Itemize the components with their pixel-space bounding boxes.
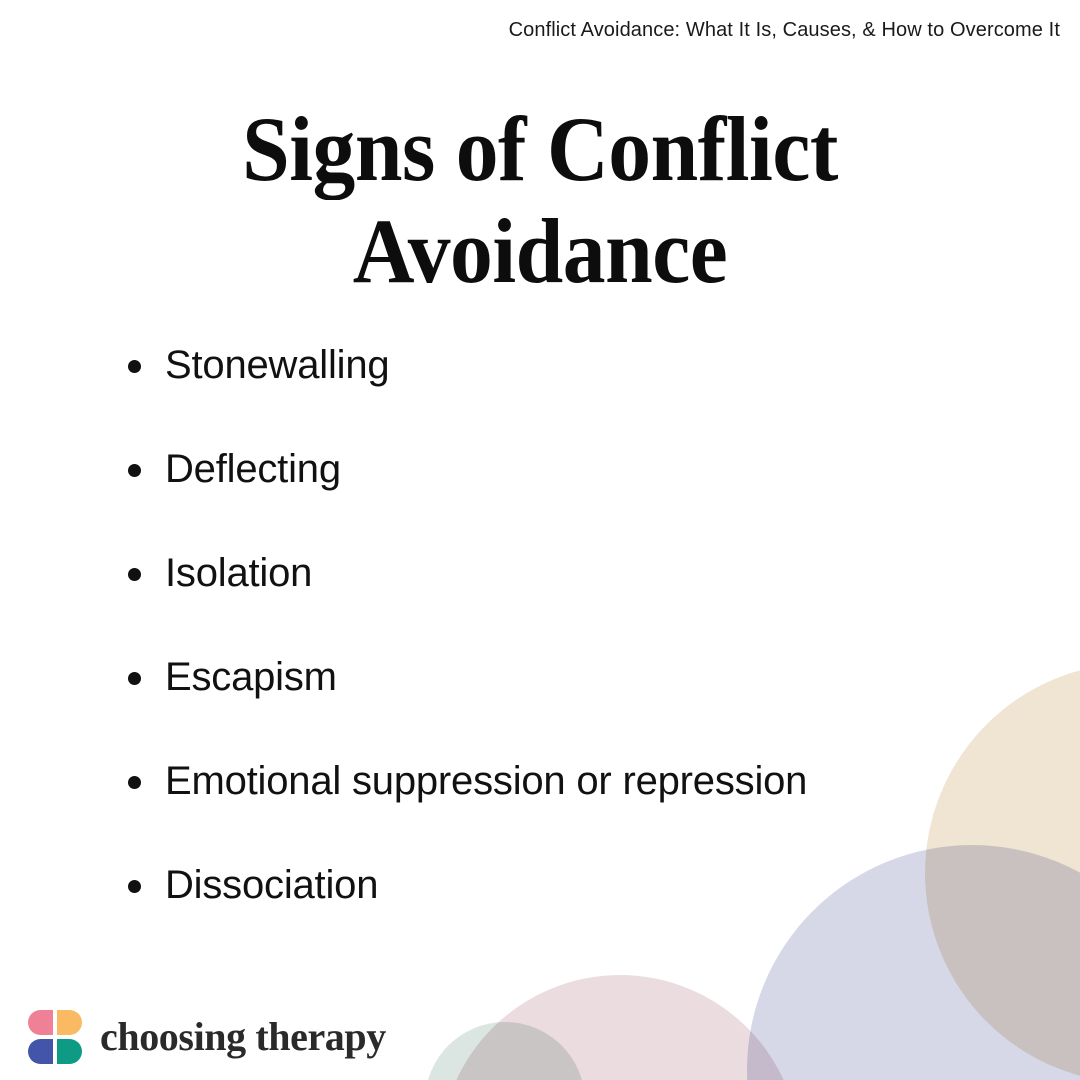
- list-item-label: Deflecting: [165, 444, 341, 494]
- list-item: Deflecting: [128, 444, 1008, 548]
- pink-circle: [440, 975, 800, 1080]
- bullet-icon: [128, 464, 141, 477]
- logo-quadrant-bottom-left: [28, 1039, 53, 1064]
- mint-circle: [425, 1022, 585, 1080]
- article-header-text: Conflict Avoidance: What It Is, Causes, …: [509, 19, 1060, 41]
- brand-wordmark: choosing therapy: [100, 1015, 386, 1059]
- bullet-icon: [128, 672, 141, 685]
- choosing-therapy-logo-icon: [28, 1010, 82, 1064]
- list-item: Stonewalling: [128, 340, 1008, 444]
- bullet-icon: [128, 360, 141, 373]
- list-item: Isolation: [128, 548, 1008, 652]
- list-item: Dissociation: [128, 860, 1008, 964]
- slide-canvas: Conflict Avoidance: What It Is, Causes, …: [0, 0, 1080, 1080]
- list-item-label: Dissociation: [165, 860, 378, 910]
- bullet-icon: [128, 776, 141, 789]
- list-item: Emotional suppression or repression: [128, 756, 1008, 860]
- logo-quadrant-top-right: [57, 1010, 82, 1035]
- bullet-icon: [128, 568, 141, 581]
- list-item: Escapism: [128, 652, 1008, 756]
- page-title: Signs of Conflict Avoidance: [0, 98, 1080, 302]
- article-header: Conflict Avoidance: What It Is, Causes, …: [0, 18, 1060, 42]
- page-title-line-1: Signs of Conflict: [38, 98, 1042, 200]
- brand-logo[interactable]: choosing therapy: [28, 1010, 386, 1064]
- list-item-label: Stonewalling: [165, 340, 389, 390]
- page-title-line-2: Avoidance: [38, 200, 1042, 302]
- list-item-label: Escapism: [165, 652, 337, 702]
- list-item-label: Isolation: [165, 548, 312, 598]
- signs-list: Stonewalling Deflecting Isolation Escapi…: [128, 340, 1008, 964]
- logo-quadrant-bottom-right: [57, 1039, 82, 1064]
- list-item-label: Emotional suppression or repression: [165, 756, 807, 806]
- bullet-icon: [128, 880, 141, 893]
- logo-quadrant-top-left: [28, 1010, 53, 1035]
